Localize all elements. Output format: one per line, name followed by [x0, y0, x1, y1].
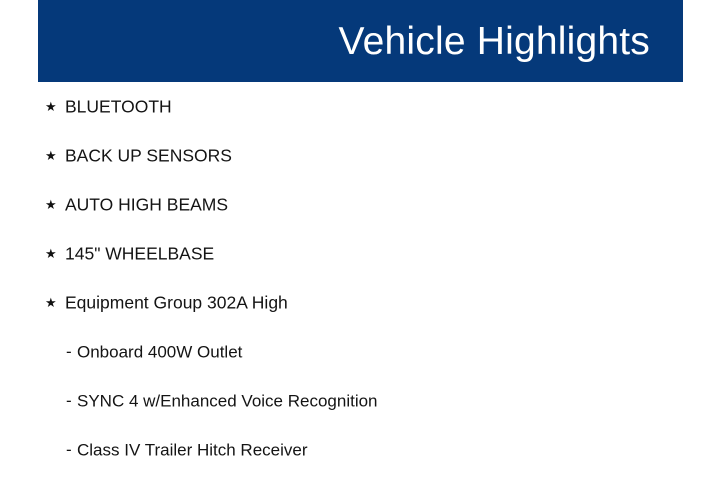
sub-highlight-label: Class IV Trailer Hitch Receiver: [77, 441, 308, 458]
star-bullet-icon: ★: [45, 198, 59, 211]
star-bullet-icon: ★: [45, 100, 59, 113]
sub-list-item: - Onboard 400W Outlet: [0, 327, 720, 376]
list-item: ★ Equipment Group 302A High: [0, 278, 720, 327]
list-item: ★ 145" WHEELBASE: [0, 229, 720, 278]
sub-highlight-label: SYNC 4 w/Enhanced Voice Recognition: [77, 392, 378, 409]
dash-bullet-icon: -: [66, 441, 72, 458]
sub-list-item: - SYNC 4 w/Enhanced Voice Recognition: [0, 376, 720, 425]
highlight-label: 145" WHEELBASE: [65, 245, 214, 263]
star-bullet-icon: ★: [45, 149, 59, 162]
list-item: ★ BACK UP SENSORS: [0, 131, 720, 180]
highlight-label: BACK UP SENSORS: [65, 147, 232, 165]
vehicle-highlights-page: Vehicle Highlights ★ BLUETOOTH ★ BACK UP…: [0, 0, 720, 480]
page-title: Vehicle Highlights: [339, 22, 683, 61]
header-banner: Vehicle Highlights: [38, 0, 683, 82]
highlight-label: BLUETOOTH: [65, 98, 172, 116]
dash-bullet-icon: -: [66, 343, 72, 360]
highlight-label: AUTO HIGH BEAMS: [65, 196, 228, 214]
list-item: ★ AUTO HIGH BEAMS: [0, 180, 720, 229]
list-item: ★ BLUETOOTH: [0, 82, 720, 131]
dash-bullet-icon: -: [66, 392, 72, 409]
sub-list-item: - Class IV Trailer Hitch Receiver: [0, 425, 720, 474]
highlight-label: Equipment Group 302A High: [65, 294, 288, 312]
highlights-list: ★ BLUETOOTH ★ BACK UP SENSORS ★ AUTO HIG…: [0, 82, 720, 474]
sub-highlight-label: Onboard 400W Outlet: [77, 343, 242, 360]
star-bullet-icon: ★: [45, 247, 59, 260]
star-bullet-icon: ★: [45, 296, 59, 309]
